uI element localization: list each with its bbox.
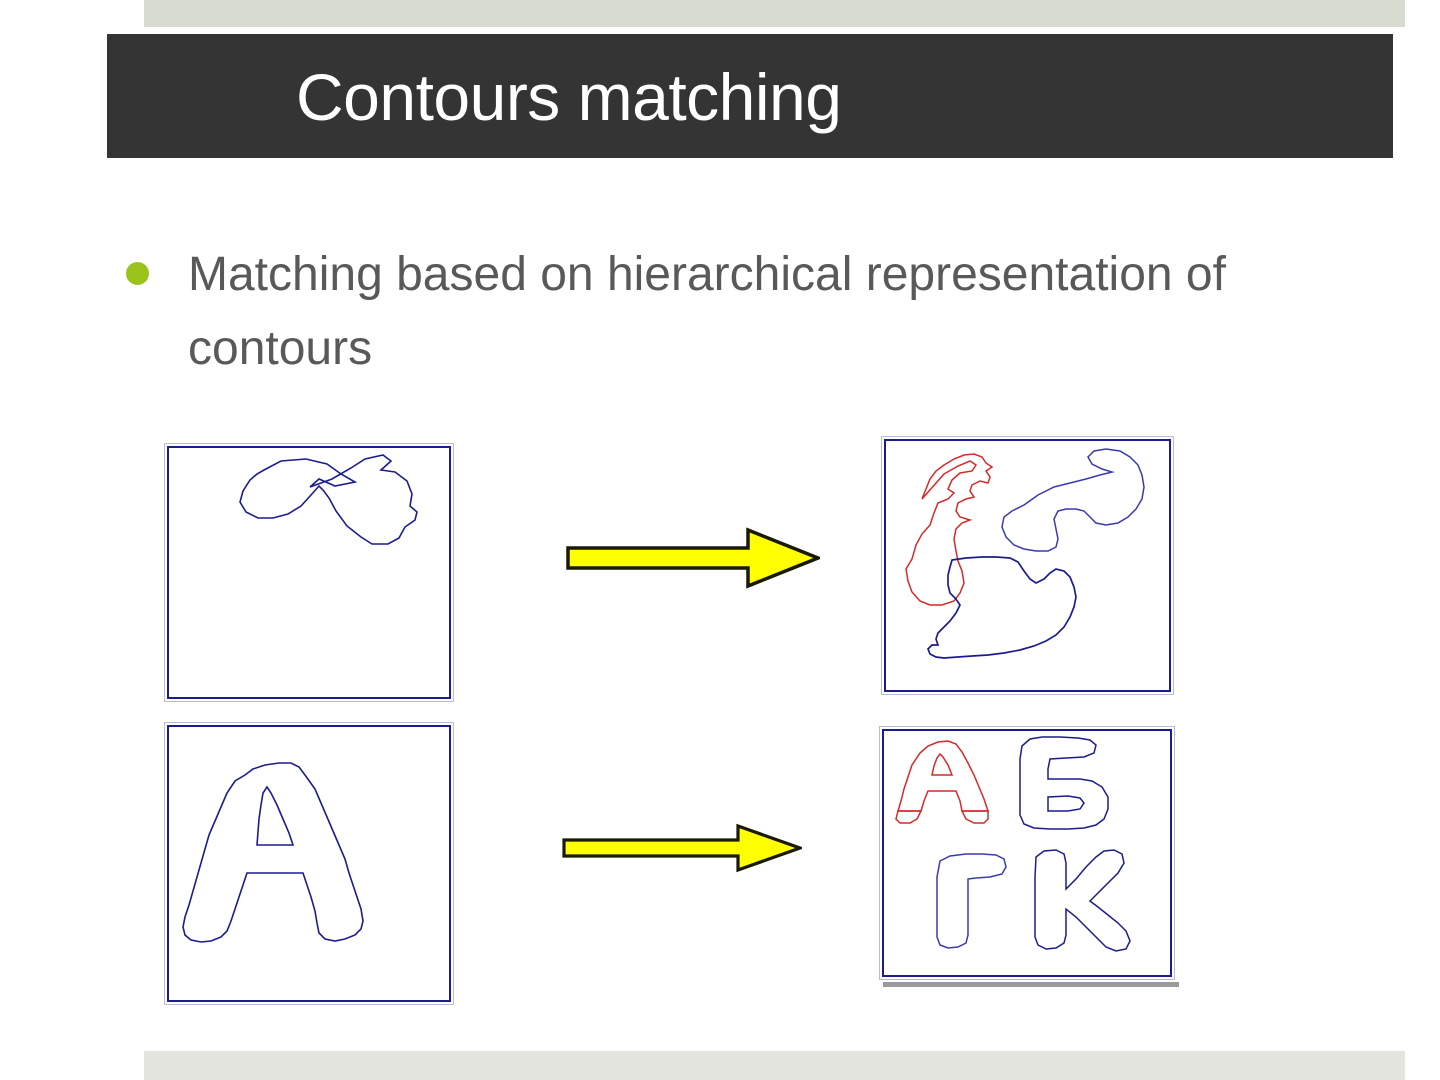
letter-a-query-outer-contour	[183, 763, 363, 942]
figure-panel-database-letters	[879, 726, 1175, 980]
match-arrow-top-icon	[566, 527, 820, 589]
header-accent-strip	[144, 0, 1405, 27]
arrow-right-shape	[568, 530, 818, 586]
bullet-item-text: Matching based on hierarchical represent…	[188, 238, 1368, 386]
slide-title-band: Contours matching	[107, 34, 1393, 158]
blob-match-contour	[906, 454, 992, 605]
letter-ghe-contour	[937, 854, 1006, 948]
footer-accent-strip	[144, 1051, 1405, 1080]
contour-canvas-query-letter	[169, 727, 449, 1000]
contour-canvas-database-blobs	[886, 441, 1169, 690]
bullet-dot-icon	[126, 262, 149, 285]
figure-panel-query-blob	[164, 443, 454, 702]
letter-a-match-contour	[898, 741, 988, 811]
figure-panel-database-blobs	[881, 436, 1174, 695]
letter-ka-contour	[1035, 850, 1130, 951]
blob-other-lower-contour	[928, 557, 1076, 658]
arrow-right-shape	[564, 826, 800, 870]
contour-canvas-query-blob	[169, 448, 449, 697]
blob-other-upper-contour	[1002, 449, 1144, 551]
letter-a-match-stem-contour	[896, 811, 988, 823]
contour-canvas-database-letters	[884, 731, 1170, 975]
match-arrow-bottom-icon	[562, 823, 802, 873]
figure-panel-query-letter	[164, 722, 454, 1005]
page-title: Contours matching	[296, 54, 841, 140]
blob-query-contour	[240, 455, 417, 544]
letter-be-contour	[1020, 737, 1108, 829]
